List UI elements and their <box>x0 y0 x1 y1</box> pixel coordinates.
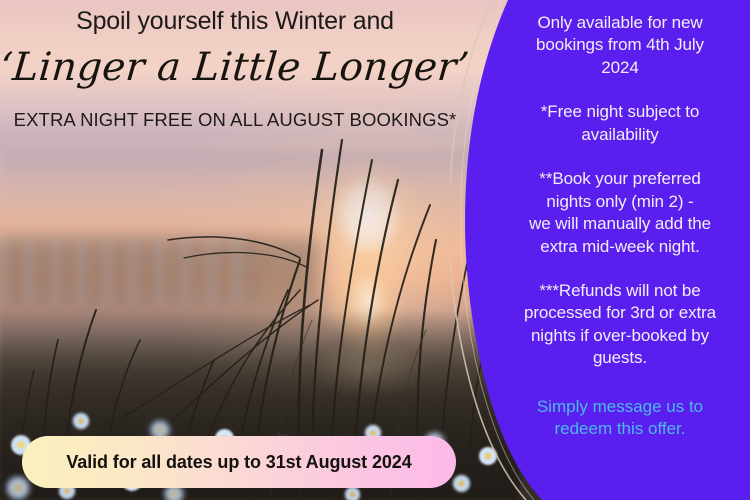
validity-banner-label: Valid for all dates up to 31st August 20… <box>66 452 411 473</box>
promotional-poster: Spoil yourself this Winter and ‘Linger a… <box>0 0 750 500</box>
terms-refund-note: ***Refunds will not be processed for 3rd… <box>495 280 745 370</box>
headline-line1: Spoil yourself this Winter and <box>0 0 470 36</box>
redeem-offer-cta[interactable]: Simply message us to redeem this offer. <box>495 396 745 441</box>
headline-subline: EXTRA NIGHT FREE ON ALL AUGUST BOOKINGS* <box>0 89 470 131</box>
terms-availability-note: Only available for new bookings from 4th… <box>495 12 745 79</box>
headline-group: Spoil yourself this Winter and ‘Linger a… <box>0 0 470 131</box>
terms-free-night-note: *Free night subject to availability <box>495 101 745 146</box>
terms-text-group: Only available for new bookings from 4th… <box>495 0 745 500</box>
headline-script-title: ‘Linger a Little Longer’ <box>0 36 472 89</box>
validity-banner: Valid for all dates up to 31st August 20… <box>22 436 456 488</box>
terms-booking-note: **Book your preferred nights only (min 2… <box>495 168 745 258</box>
